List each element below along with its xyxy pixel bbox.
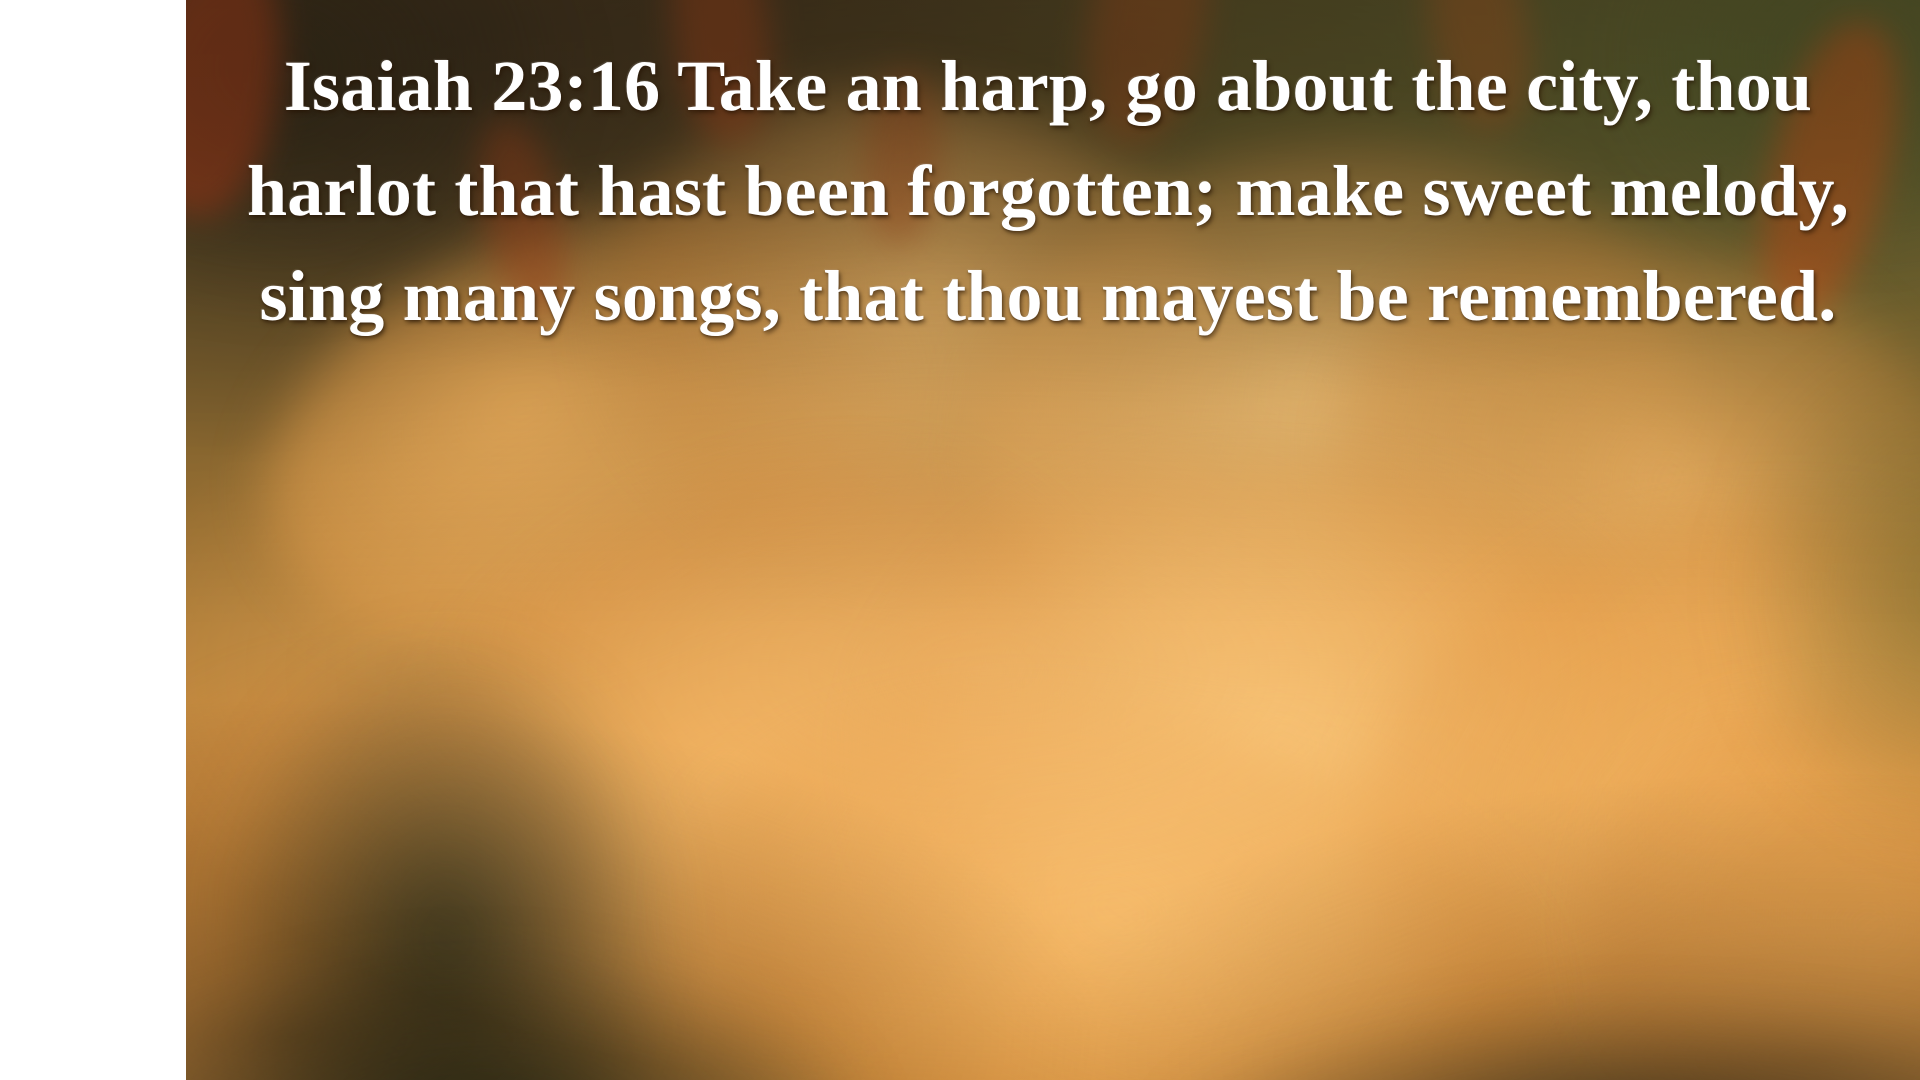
background-photo (186, 0, 1920, 1080)
slide-canvas: Isaiah 23:16 Take an harp, go about the … (0, 0, 1920, 1080)
text-contrast-scrim (186, 0, 1920, 1080)
left-white-margin (0, 0, 186, 1080)
